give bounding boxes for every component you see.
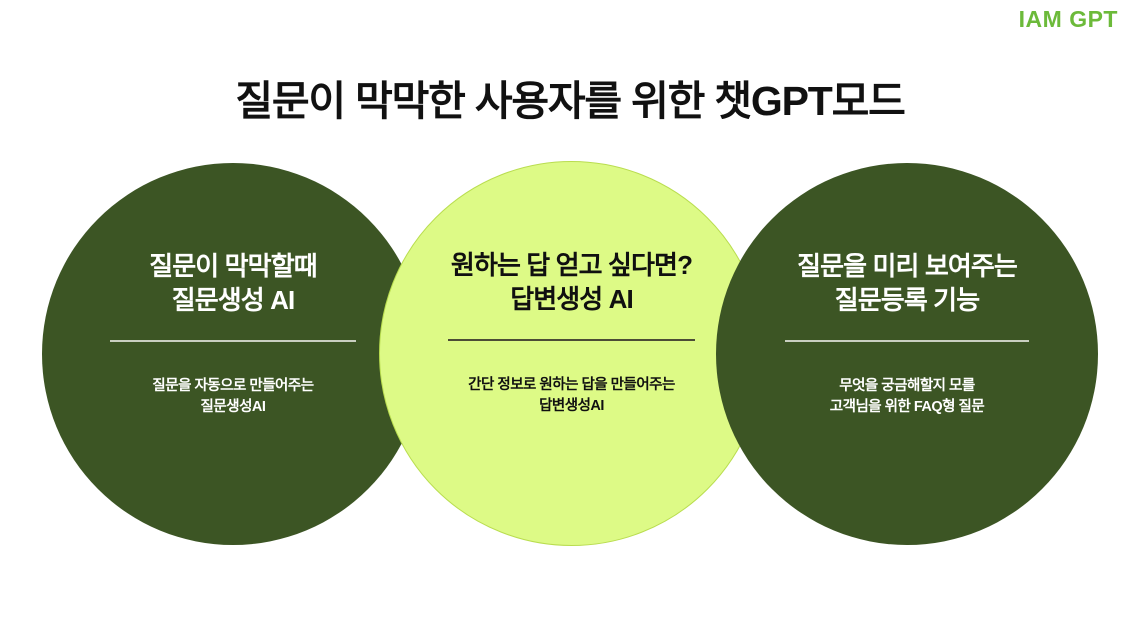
venn-circle-right[interactable]: 질문을 미리 보여주는 질문등록 기능 무엇을 궁금해할지 모를 고객님을 위한… (716, 163, 1098, 545)
venn-circle-right-body: 무엇을 궁금해할지 모를 고객님을 위한 FAQ형 질문 (830, 376, 984, 418)
venn-circle-center-divider (448, 339, 695, 341)
venn-circle-right-heading: 질문을 미리 보여주는 질문등록 기능 (797, 249, 1017, 318)
venn-diagram: 질문이 막막할때 질문생성 AI 질문을 자동으로 만들어주는 질문생성AI 원… (0, 0, 1140, 640)
venn-circle-center-content: 원하는 답 얻고 싶다면? 답변생성 AI 간단 정보로 원하는 답을 만들어주… (380, 162, 763, 545)
venn-circle-left-heading: 질문이 막막할때 질문생성 AI (149, 249, 316, 318)
slide-canvas: IAM GPT 질문이 막막한 사용자를 위한 챗GPT모드 질문이 막막할때 … (0, 0, 1140, 640)
venn-circle-right-divider (785, 340, 1029, 342)
venn-circle-center-body: 간단 정보로 원하는 답을 만들어주는 답변생성AI (468, 375, 675, 417)
venn-circle-left-body: 질문을 자동으로 만들어주는 질문생성AI (152, 376, 313, 418)
venn-circle-right-content: 질문을 미리 보여주는 질문등록 기능 무엇을 궁금해할지 모를 고객님을 위한… (716, 163, 1098, 545)
venn-circle-left-divider (110, 340, 356, 342)
venn-circle-center-heading: 원하는 답 얻고 싶다면? 답변생성 AI (451, 248, 692, 317)
venn-circle-left-content: 질문이 막막할때 질문생성 AI 질문을 자동으로 만들어주는 질문생성AI (42, 163, 424, 545)
venn-circle-center[interactable]: 원하는 답 얻고 싶다면? 답변생성 AI 간단 정보로 원하는 답을 만들어주… (379, 161, 764, 546)
venn-circle-left[interactable]: 질문이 막막할때 질문생성 AI 질문을 자동으로 만들어주는 질문생성AI (42, 163, 424, 545)
